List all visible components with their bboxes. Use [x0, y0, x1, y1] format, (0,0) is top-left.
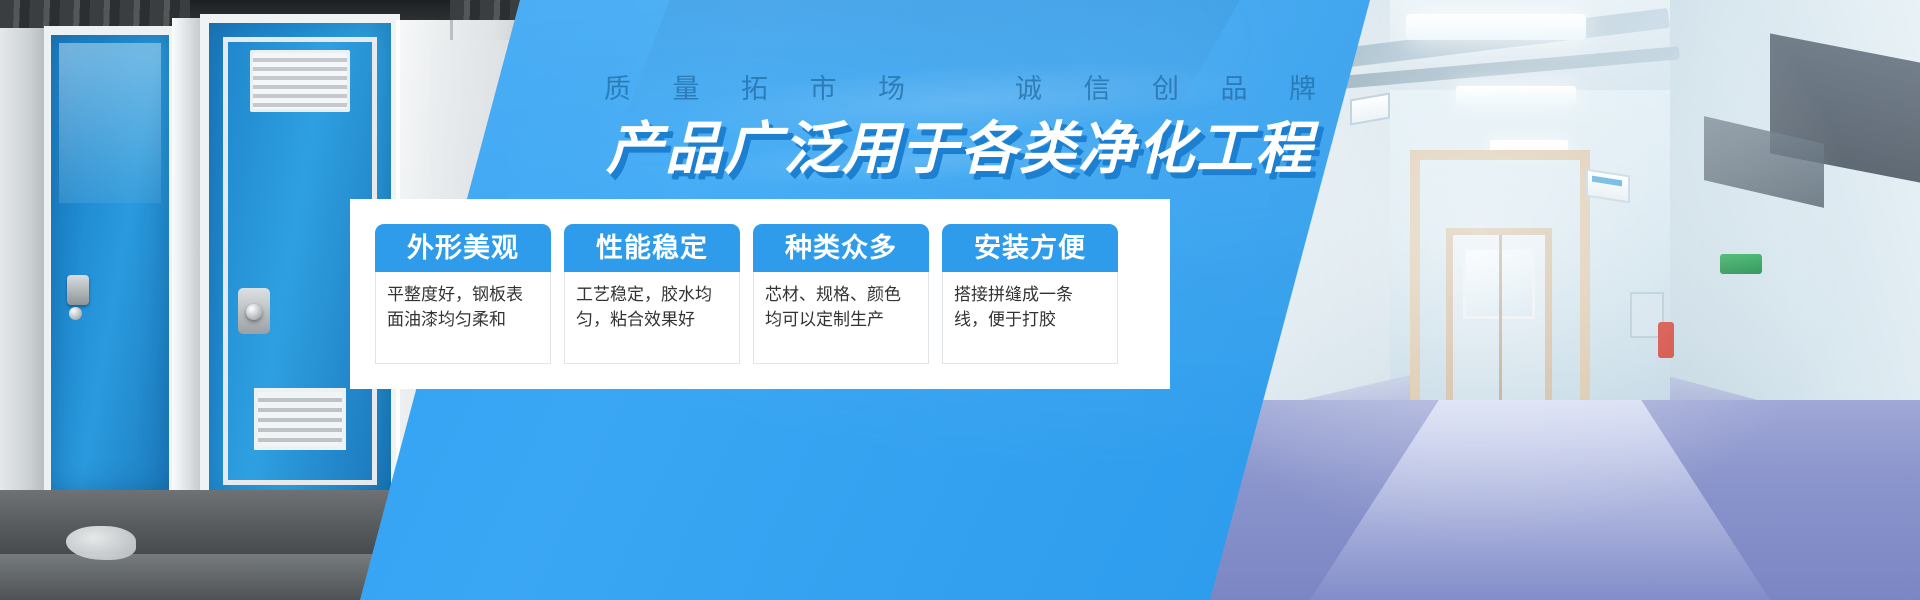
- cabin-door-handle: [246, 304, 262, 320]
- feature-card-text: 平整度好，钢板表面油漆均匀柔和: [375, 272, 551, 364]
- feature-card[interactable]: 性能稳定 工艺稳定，胶水均匀，粘合效果好: [564, 224, 740, 364]
- feature-card-title: 外形美观: [375, 224, 551, 272]
- promo-banner: 质 量 拓 市 场 诚 信 创 品 牌 产品广泛用于各类净化工程 外形美观 平整…: [0, 0, 1920, 600]
- cabin-door-knob: [69, 307, 82, 320]
- banner-headline: 产品广泛用于各类净化工程: [0, 113, 1920, 185]
- feature-card-text: 芯材、规格、颜色均可以定制生产: [753, 272, 929, 364]
- banner-tagline: 质 量 拓 市 场 诚 信 创 品 牌: [0, 72, 1920, 106]
- cabin-lower-vent: [254, 388, 346, 450]
- feature-card-title: 安装方便: [942, 224, 1118, 272]
- feature-card[interactable]: 种类众多 芯材、规格、颜色均可以定制生产: [753, 224, 929, 364]
- feature-card-title: 性能稳定: [564, 224, 740, 272]
- feature-card[interactable]: 外形美观 平整度好，钢板表面油漆均匀柔和: [375, 224, 551, 364]
- feature-card-strip: 外形美观 平整度好，钢板表面油漆均匀柔和 性能稳定 工艺稳定，胶水均匀，粘合效果…: [350, 199, 1170, 389]
- feature-card-text: 工艺稳定，胶水均匀，粘合效果好: [564, 272, 740, 364]
- feature-card-text: 搭接拼缝成一条线，便于打胶: [942, 272, 1118, 364]
- feature-card[interactable]: 安装方便 搭接拼缝成一条线，便于打胶: [942, 224, 1118, 364]
- cabin-lock-hinge: [67, 275, 89, 305]
- feature-card-title: 种类众多: [753, 224, 929, 272]
